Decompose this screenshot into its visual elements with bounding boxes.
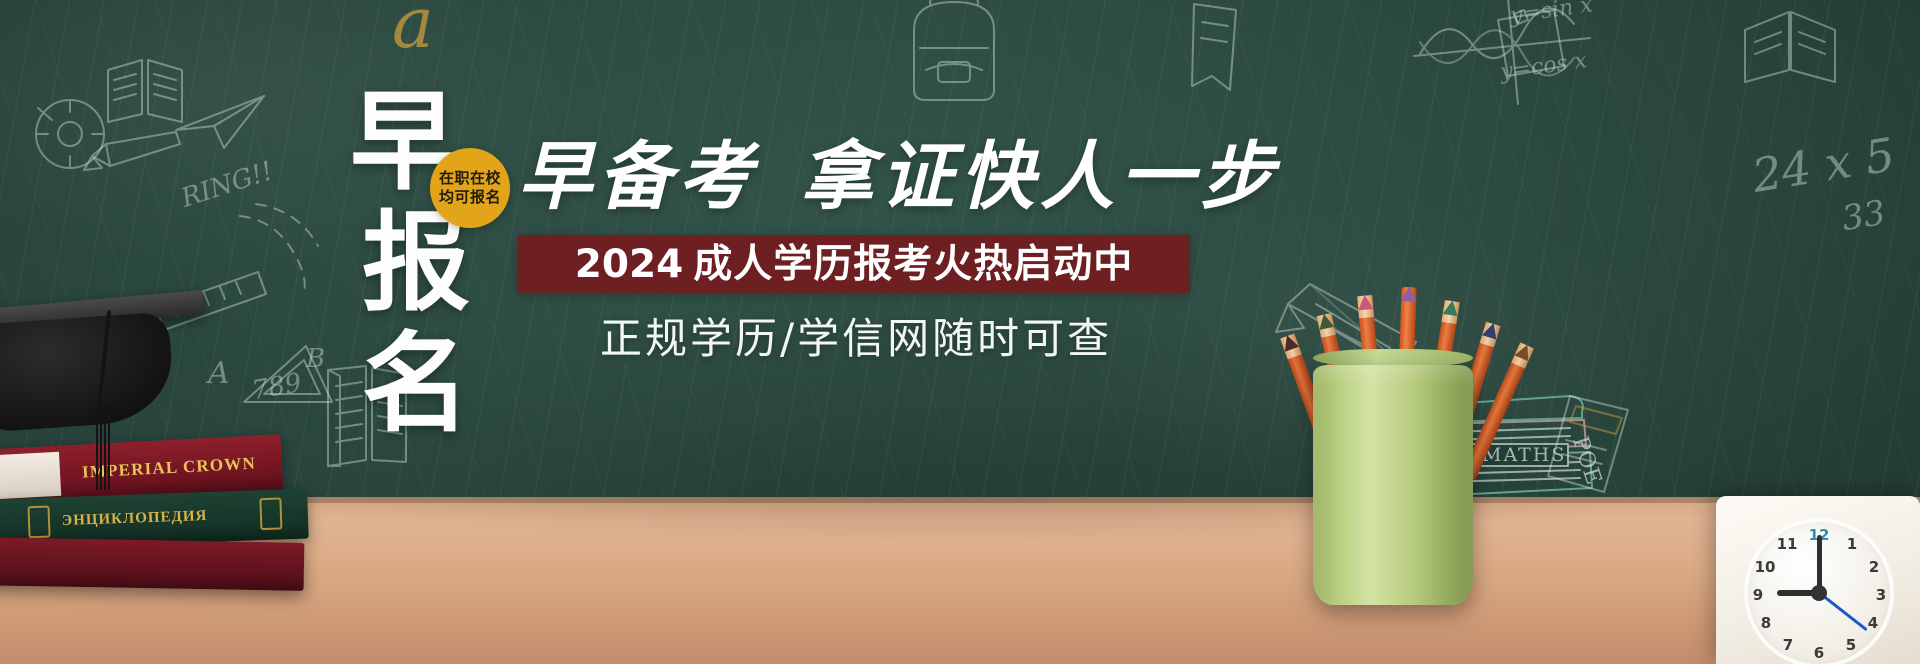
vertical-title-line-3: 名 <box>362 324 540 445</box>
clock-numeral-5: 5 <box>1840 636 1862 654</box>
headline-part-2: 拿证快人一步 <box>800 134 1280 220</box>
book-pages <box>0 452 61 500</box>
ribbon-text: 2024成人学历报考火热启动中 <box>575 245 1134 284</box>
clock-face: 12 1 2 3 4 5 6 7 8 9 10 11 <box>1744 518 1894 664</box>
clock-numeral-2: 2 <box>1863 558 1885 576</box>
badge-line-1: 在职在校 <box>439 169 501 188</box>
badge-line-2: 均可报名 <box>439 188 501 207</box>
clock-numeral-1: 1 <box>1841 535 1863 553</box>
cap-tassel-fringe <box>96 420 111 490</box>
book-ornament-right <box>259 497 282 530</box>
ribbon-banner: 2024成人学历报考火热启动中 <box>518 235 1190 293</box>
clock-numeral-8: 8 <box>1755 614 1777 632</box>
pencil-tip-3 <box>1357 295 1373 310</box>
book-dark-red <box>0 537 304 591</box>
headline-part-1: 早备考 <box>518 134 758 220</box>
pencil-cup-group <box>1283 185 1513 605</box>
clock-numeral-3: 3 <box>1870 586 1892 604</box>
clock-numeral-7: 7 <box>1777 636 1799 654</box>
book-ornament-left <box>27 506 50 539</box>
eligibility-badge: 在职在校 均可报名 <box>430 148 510 228</box>
cap-body <box>0 312 176 433</box>
clock-numeral-9: 9 <box>1747 586 1769 604</box>
pencil-tip-4 <box>1401 287 1416 302</box>
subtitle: 正规学历/学信网随时可查 <box>600 305 1112 366</box>
pencil-tip-5 <box>1443 300 1460 316</box>
book-stack-photo: IMPERIAL CROWN ЭНЦИКЛОПЕДИЯ <box>0 420 312 664</box>
headline: 早备考拿证快人一步 <box>518 140 1280 214</box>
graduation-cap <box>0 300 224 450</box>
clock-numeral-6: 6 <box>1808 644 1830 662</box>
alarm-clock: 12 1 2 3 4 5 6 7 8 9 10 11 <box>1716 496 1920 664</box>
ribbon-label: 成人学历报考火热启动中 <box>693 242 1133 287</box>
pencil-cup <box>1313 365 1473 605</box>
clock-numeral-11: 11 <box>1776 535 1798 553</box>
book-green-title: ЭНЦИКЛОПЕДИЯ <box>62 508 208 530</box>
clock-center-pin <box>1811 585 1827 601</box>
clock-numeral-10: 10 <box>1754 558 1776 576</box>
promo-banner: RING!! a A B 789 y=sin x y=cos x <box>0 0 1920 664</box>
vertical-title: 早 报 名 <box>350 82 540 445</box>
ribbon-year: 2024 <box>575 242 684 287</box>
